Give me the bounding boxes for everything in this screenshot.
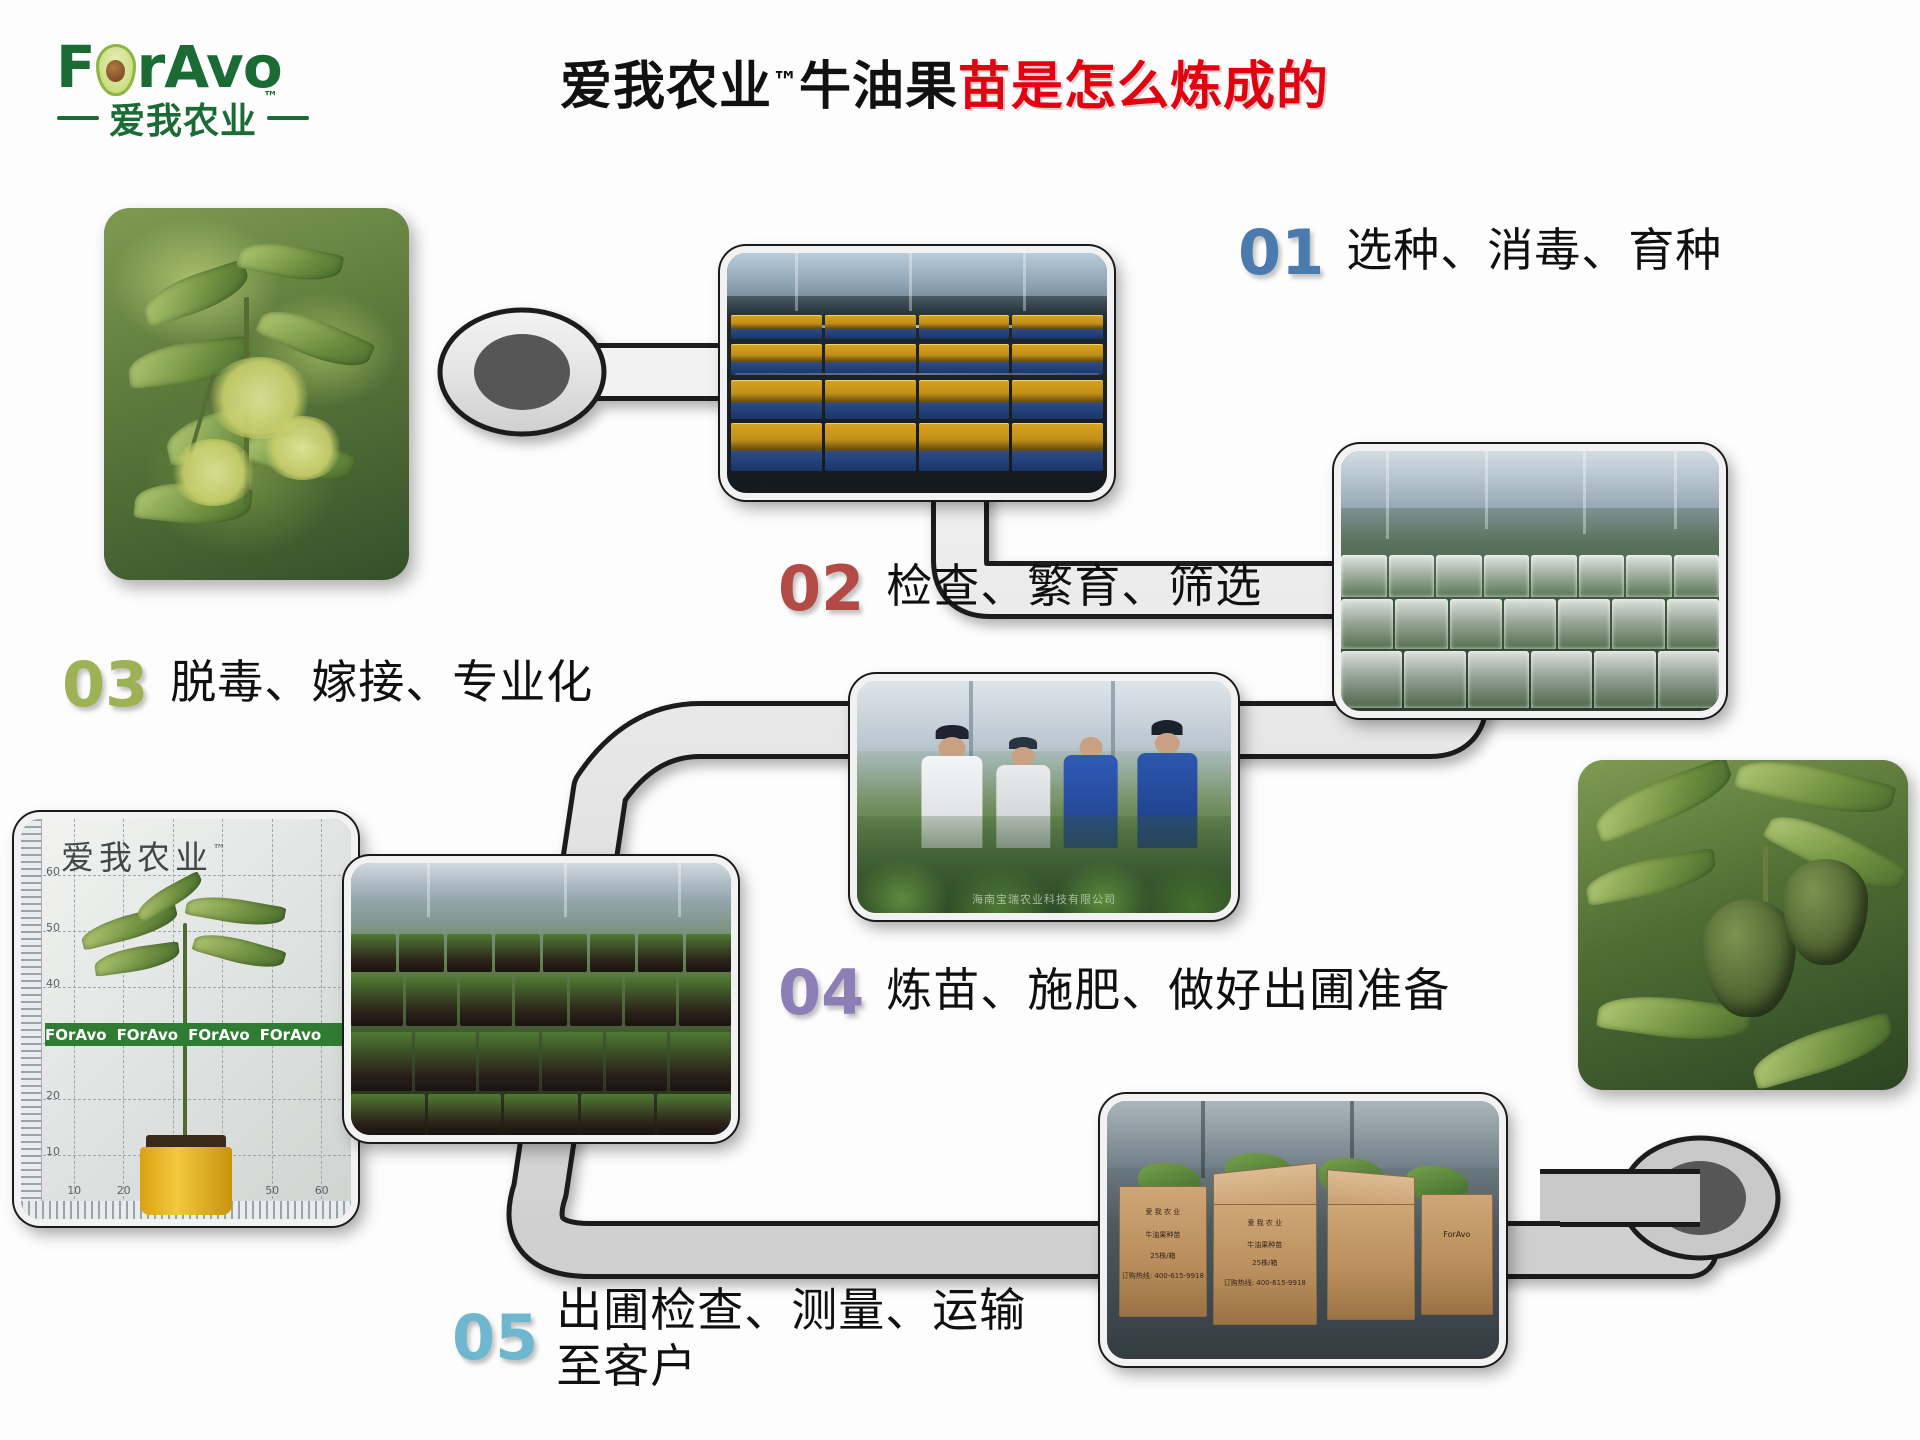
carton-line2: 牛油果种苗 <box>1214 1241 1316 1250</box>
seedling-pot <box>140 1147 232 1215</box>
ruler-x-tick: 10 <box>67 1184 81 1197</box>
step-text-05: 出圃检查、测量、运输 至客户 <box>556 1282 1026 1394</box>
ruler-x-tick: 50 <box>265 1184 279 1197</box>
step-number-01: 01 <box>1238 222 1324 284</box>
ruler-y-tick: 10 <box>46 1145 60 1158</box>
pipeline-start-node <box>474 334 570 410</box>
carton-line4: 订购热线: 400-615-9918 <box>1120 1272 1206 1281</box>
step-label-01: 01 选种、消毒、育种 <box>1238 222 1722 284</box>
ruler-x-tick: 60 <box>315 1184 329 1197</box>
ruler-y-tick: 20 <box>46 1089 60 1102</box>
avocado-fruit <box>1703 899 1795 1018</box>
board-brand-title: 爱我农业™ <box>61 831 343 879</box>
carton-right <box>1327 1204 1415 1320</box>
carton-line2: 牛油果种苗 <box>1120 1231 1206 1240</box>
step-number-04: 04 <box>778 962 864 1024</box>
photo-shipping-boxes: 爱 我 农 业 牛油果种苗 25株/箱 订购热线: 400-615-9918 爱… <box>1100 1094 1506 1366</box>
board-brand-tm: ™ <box>213 842 225 856</box>
step-number-02: 02 <box>778 558 864 620</box>
foravo-band-text: FOrAvo <box>260 1026 332 1044</box>
carton-line4: 订购热线: 400-615-9918 <box>1214 1279 1316 1288</box>
foravo-band-text: FOrAvo <box>117 1026 189 1044</box>
photo-potted-seedling-rows <box>344 856 738 1142</box>
foravo-watermark-band: FOrAvo FOrAvo FOrAvo FOrAvo <box>45 1023 351 1046</box>
photo-seed-trays <box>720 246 1114 500</box>
ruler-y-tick: 50 <box>46 921 60 934</box>
step-text-01: 选种、消毒、育种 <box>1346 222 1722 278</box>
foravo-band-text: FOrAvo <box>188 1026 260 1044</box>
step-text-05-line1: 出圃检查、测量、运输 <box>556 1283 1026 1337</box>
infographic-canvas: FrAvo 爱我农业 ™ 爱我农业™牛油果苗是怎么炼成的 <box>0 0 1920 1440</box>
carton-line1: 爱 我 农 业 <box>1120 1208 1206 1217</box>
step-text-05-line2: 至客户 <box>556 1338 1026 1394</box>
step-text-04: 炼苗、施肥、做好出圃准备 <box>886 962 1450 1018</box>
carton-side-brand: ForAvo <box>1422 1230 1493 1239</box>
carton-far-right: ForAvo <box>1421 1194 1494 1315</box>
step-number-03: 03 <box>62 654 148 716</box>
photo-avocado-fruit <box>1578 760 1908 1090</box>
step-label-02: 02 检查、繁育、筛选 <box>778 558 1262 620</box>
step-number-05: 05 <box>452 1307 538 1369</box>
photo-technicians-inspecting: 海南宝瑞农业科技有限公司 <box>850 674 1238 920</box>
avocado-fruit <box>1783 859 1869 965</box>
step-label-04: 04 炼苗、施肥、做好出圃准备 <box>778 962 1450 1024</box>
carton-left: 爱 我 农 业 牛油果种苗 25株/箱 订购热线: 400-615-9918 <box>1119 1186 1207 1317</box>
carton-line3: 25株/箱 <box>1120 1252 1206 1261</box>
ruler-x-tick: 20 <box>117 1184 131 1197</box>
carton-line1: 爱 我 农 业 <box>1214 1219 1316 1228</box>
carton-center: 爱 我 农 业 牛油果种苗 25株/箱 订购热线: 400-615-9918 <box>1213 1204 1317 1325</box>
ruler-vertical <box>21 819 42 1219</box>
photo-avocado-flowers <box>104 208 409 580</box>
board-brand-label: 爱我农业 <box>61 838 213 877</box>
step-label-05: 05 出圃检查、测量、运输 至客户 <box>452 1282 1026 1394</box>
step-label-03: 03 脱毒、嫁接、专业化 <box>62 654 593 716</box>
ruler-y-tick: 40 <box>46 977 60 990</box>
photo-bagged-plants <box>1334 444 1726 718</box>
photo-watermark: 海南宝瑞农业科技有限公司 <box>857 891 1231 907</box>
carton-line3: 25株/箱 <box>1214 1259 1316 1268</box>
step-text-02: 检查、繁育、筛选 <box>886 558 1262 614</box>
step-text-03: 脱毒、嫁接、专业化 <box>170 654 593 710</box>
foravo-band-text: FOrAvo <box>45 1026 117 1044</box>
ruler-y-tick: 60 <box>46 865 60 878</box>
photo-measuring-board: 60 50 40 30 20 10 10 20 30 40 50 60 爱我农业… <box>14 812 358 1226</box>
